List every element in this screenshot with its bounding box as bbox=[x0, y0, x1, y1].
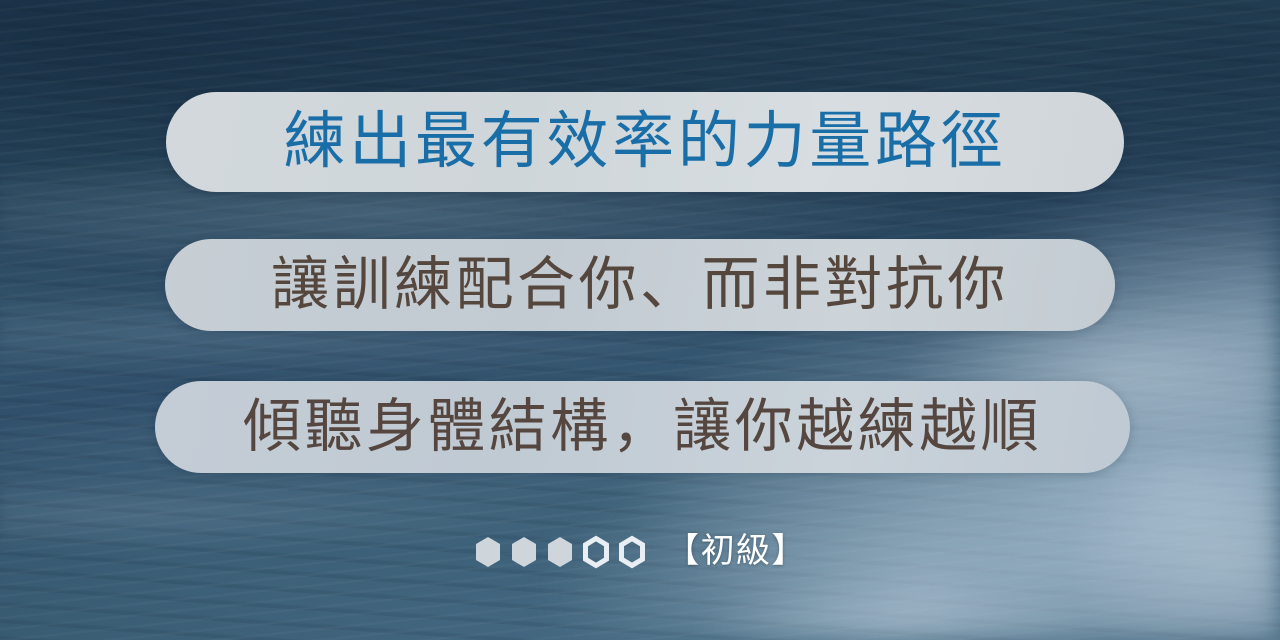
subline-1-card: 讓訓練配合你、而非對抗你 bbox=[165, 239, 1115, 331]
subline-2-card: 傾聽身體結構，讓你越練越順 bbox=[155, 381, 1130, 473]
hexagon-empty-icon bbox=[617, 535, 647, 569]
hexagon-filled-icon bbox=[473, 535, 503, 569]
slide-canvas: 練出最有效率的力量路徑 讓訓練配合你、而非對抗你 傾聽身體結構，讓你越練越順 bbox=[0, 0, 1280, 640]
level-indicator: 【初級】 bbox=[0, 528, 1280, 576]
level-label: 【初級】 bbox=[665, 535, 806, 569]
subline-2-text: 傾聽身體結構，讓你越練越順 bbox=[243, 398, 1042, 456]
hexagon-filled-icon bbox=[509, 535, 539, 569]
headline-text: 練出最有效率的力量路徑 bbox=[284, 111, 1007, 173]
hexagon-filled-icon bbox=[545, 535, 575, 569]
subline-1-text: 讓訓練配合你、而非對抗你 bbox=[271, 256, 1009, 314]
hexagon-empty-icon bbox=[581, 535, 611, 569]
level-marker-group bbox=[473, 535, 647, 569]
headline-card: 練出最有效率的力量路徑 bbox=[166, 92, 1124, 192]
